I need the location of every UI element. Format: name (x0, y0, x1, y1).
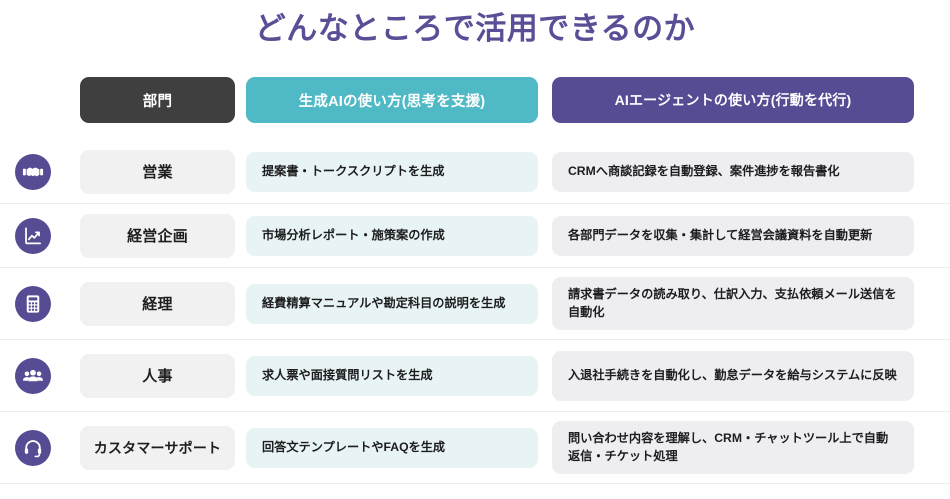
agent-text: 請求書データの読み取り、仕訳入力、支払依頼メール送信を自動化 (552, 277, 914, 330)
row-icon-cell (0, 286, 66, 322)
department-label: 人事 (80, 354, 235, 398)
header-cell-agent: AIエージェントの使い方(行動を代行) (552, 77, 950, 123)
handshake-icon (15, 154, 51, 190)
calculator-icon (15, 286, 51, 322)
row-agent-cell: 入退社手続きを自動化し、勤怠データを給与システムに反映 (552, 351, 950, 401)
agent-text: 問い合わせ内容を理解し、CRM・チャットツール上で自動返信・チケット処理 (552, 421, 914, 474)
row-icon-cell (0, 358, 66, 394)
row-agent-cell: 請求書データの読み取り、仕訳入力、支払依頼メール送信を自動化 (552, 277, 950, 330)
department-label: 経営企画 (80, 214, 235, 258)
header-cell-department: 部門 (66, 77, 246, 123)
header-pill-department: 部門 (80, 77, 235, 123)
agent-text: 各部門データを収集・集計して経営会議資料を自動更新 (552, 216, 914, 256)
row-agent-cell: CRMへ商談記録を自動登録、案件進捗を報告書化 (552, 152, 950, 192)
header-cell-genai: 生成AIの使い方(思考を支援) (246, 77, 552, 123)
table-header-row: 部門 生成AIの使い方(思考を支援) AIエージェントの使い方(行動を代行) (0, 74, 950, 126)
genai-text: 回答文テンプレートやFAQを生成 (246, 428, 538, 468)
row-genai-cell: 回答文テンプレートやFAQを生成 (246, 428, 552, 468)
line-chart-icon (15, 218, 51, 254)
row-icon-cell (0, 154, 66, 190)
department-label: 営業 (80, 150, 235, 194)
header-pill-genai: 生成AIの使い方(思考を支援) (246, 77, 538, 123)
agent-text: CRMへ商談記録を自動登録、案件進捗を報告書化 (552, 152, 914, 192)
header-pill-agent: AIエージェントの使い方(行動を代行) (552, 77, 914, 123)
row-genai-cell: 提案書・トークスクリプトを生成 (246, 152, 552, 192)
table-row: 経営企画 市場分析レポート・施策案の作成 各部門データを収集・集計して経営会議資… (0, 204, 950, 268)
row-agent-cell: 問い合わせ内容を理解し、CRM・チャットツール上で自動返信・チケット処理 (552, 421, 950, 474)
table-row: 経理 経費精算マニュアルや勘定科目の説明を生成 請求書データの読み取り、仕訳入力… (0, 268, 950, 340)
department-label: 経理 (80, 282, 235, 326)
row-icon-cell (0, 430, 66, 466)
page-title: どんなところで活用できるのか (0, 8, 950, 50)
table-row: 人事 求人票や面接質問リストを生成 入退社手続きを自動化し、勤怠データを給与シス… (0, 340, 950, 412)
people-group-icon (15, 358, 51, 394)
genai-text: 経費精算マニュアルや勘定科目の説明を生成 (246, 284, 538, 324)
row-department-cell: 経営企画 (66, 214, 246, 258)
table-row: 営業 提案書・トークスクリプトを生成 CRMへ商談記録を自動登録、案件進捗を報告… (0, 140, 950, 204)
row-icon-cell (0, 218, 66, 254)
genai-text: 市場分析レポート・施策案の作成 (246, 216, 538, 256)
slide-canvas: どんなところで活用できるのか 部門 生成AIの使い方(思考を支援) AIエージェ… (0, 0, 950, 499)
row-genai-cell: 経費精算マニュアルや勘定科目の説明を生成 (246, 284, 552, 324)
row-department-cell: カスタマーサポート (66, 426, 246, 470)
row-department-cell: 人事 (66, 354, 246, 398)
row-department-cell: 営業 (66, 150, 246, 194)
agent-text: 入退社手続きを自動化し、勤怠データを給与システムに反映 (552, 351, 914, 401)
genai-text: 求人票や面接質問リストを生成 (246, 356, 538, 396)
department-label: カスタマーサポート (80, 426, 235, 470)
headset-icon (15, 430, 51, 466)
row-department-cell: 経理 (66, 282, 246, 326)
comparison-table: 部門 生成AIの使い方(思考を支援) AIエージェントの使い方(行動を代行) (0, 74, 950, 484)
row-genai-cell: 市場分析レポート・施策案の作成 (246, 216, 552, 256)
row-agent-cell: 各部門データを収集・集計して経営会議資料を自動更新 (552, 216, 950, 256)
table-row: カスタマーサポート 回答文テンプレートやFAQを生成 問い合わせ内容を理解し、C… (0, 412, 950, 484)
genai-text: 提案書・トークスクリプトを生成 (246, 152, 538, 192)
row-genai-cell: 求人票や面接質問リストを生成 (246, 356, 552, 396)
